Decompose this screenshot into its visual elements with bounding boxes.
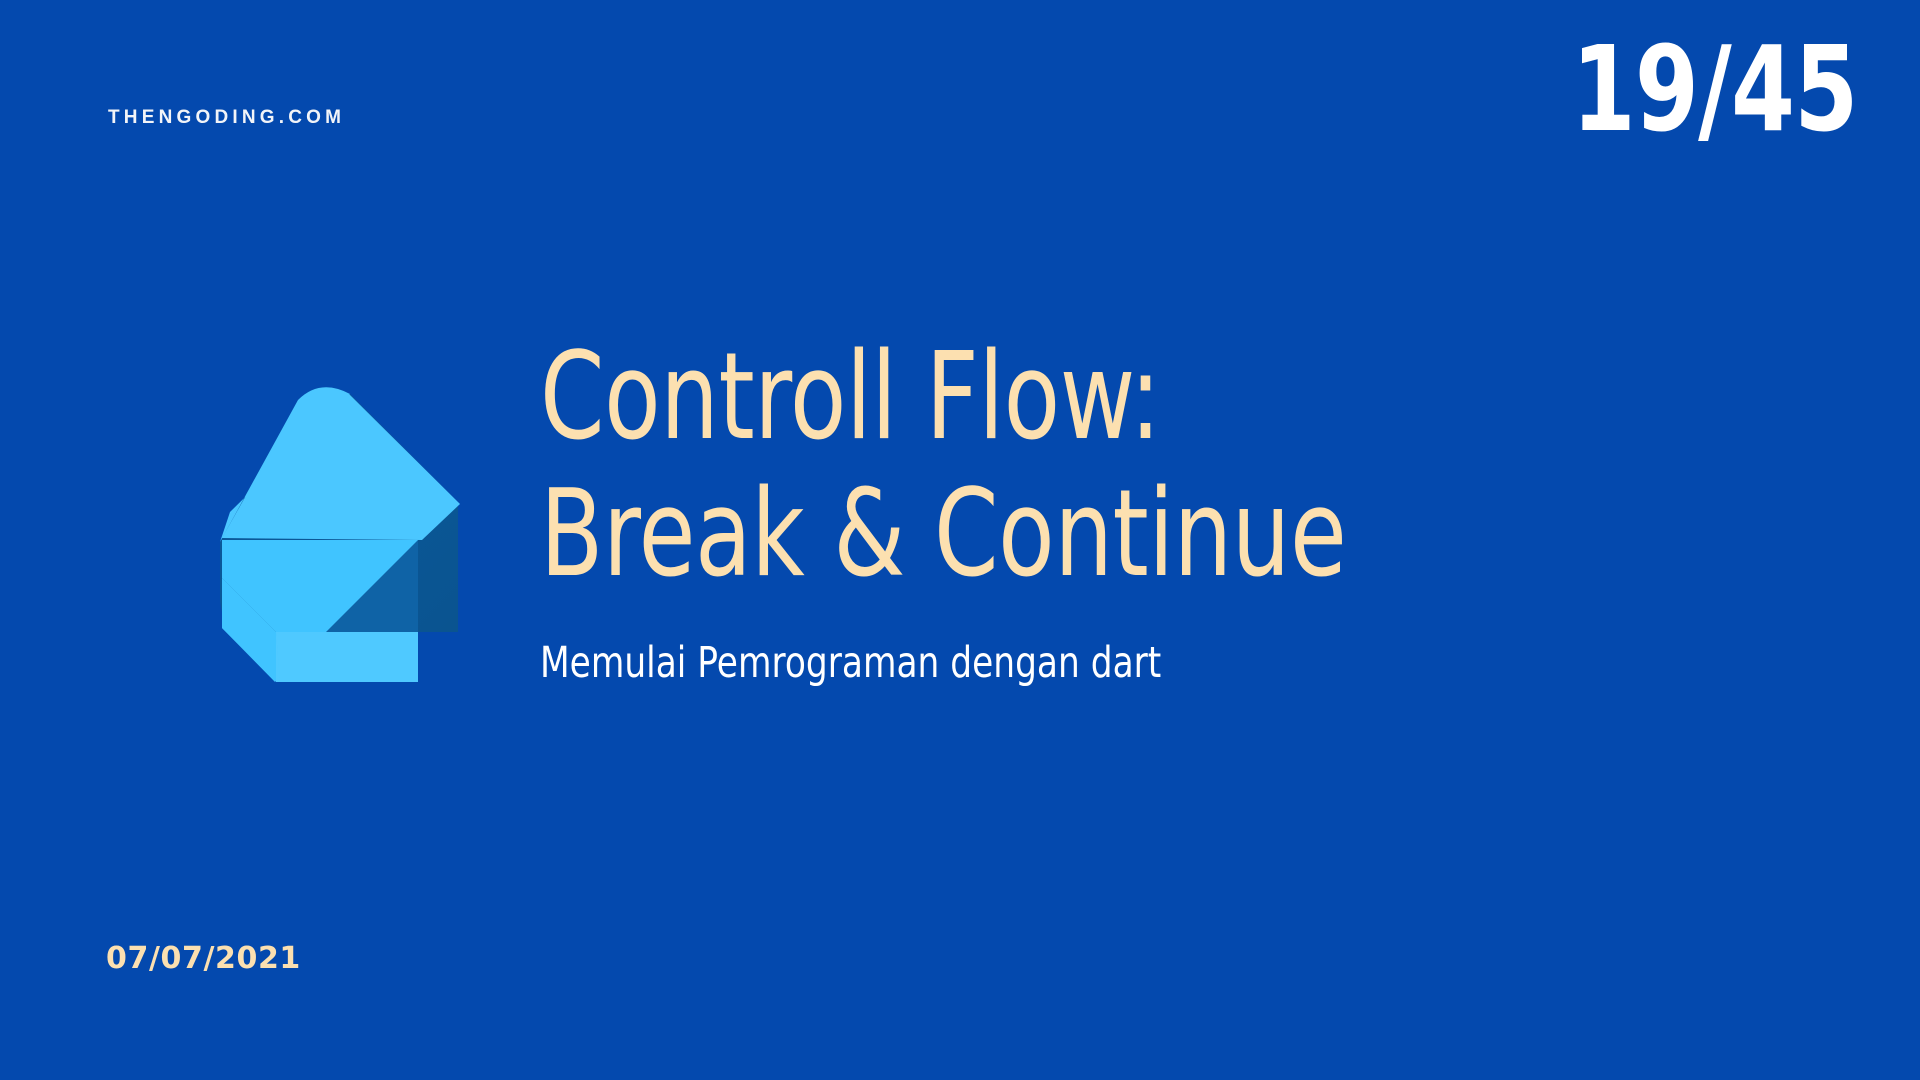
- dart-logo: [160, 382, 470, 682]
- page-counter: 19/45: [1572, 30, 1858, 148]
- slide-date: 07/07/2021: [106, 944, 301, 974]
- slide-root: THENGODING.COM 19/45: [0, 0, 1920, 1080]
- brand-watermark: THENGODING.COM: [108, 108, 345, 127]
- slide-title: Controll Flow: Break & Continue: [540, 330, 1556, 604]
- dart-logo-svg: [160, 382, 470, 682]
- slide-subtitle: Memulai Pemrograman dengan dart: [540, 638, 1161, 690]
- slide-content: Controll Flow: Break & Continue Memulai …: [540, 330, 1860, 604]
